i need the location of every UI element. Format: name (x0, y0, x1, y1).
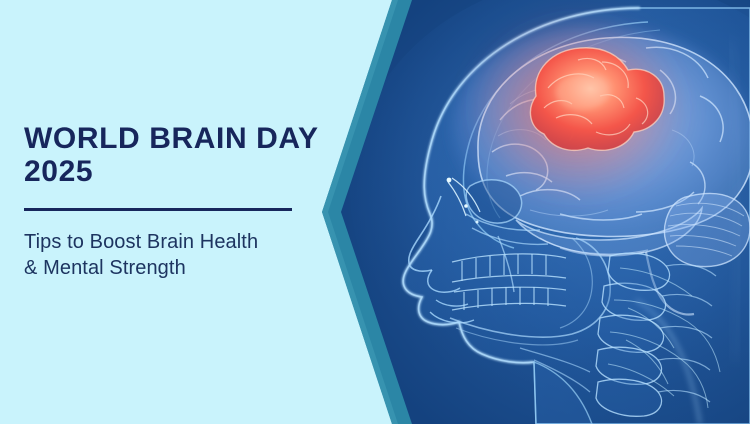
tumor-highlight (466, 12, 690, 204)
page-title: WORLD BRAIN DAY 2025 (24, 122, 324, 188)
subhead-line-1: Tips to Boost Brain Health (24, 229, 324, 255)
page-subtitle: Tips to Boost Brain Health & Mental Stre… (24, 229, 324, 281)
headline-line-1: WORLD BRAIN DAY (24, 122, 324, 155)
subhead-line-2: & Mental Strength (24, 255, 324, 281)
headline-line-2: 2025 (24, 155, 324, 188)
world-brain-day-banner: WORLD BRAIN DAY 2025 Tips to Boost Brain… (0, 0, 750, 424)
text-column: WORLD BRAIN DAY 2025 Tips to Boost Brain… (24, 122, 324, 281)
cerebellum (664, 194, 750, 267)
title-divider-rule (24, 208, 292, 211)
